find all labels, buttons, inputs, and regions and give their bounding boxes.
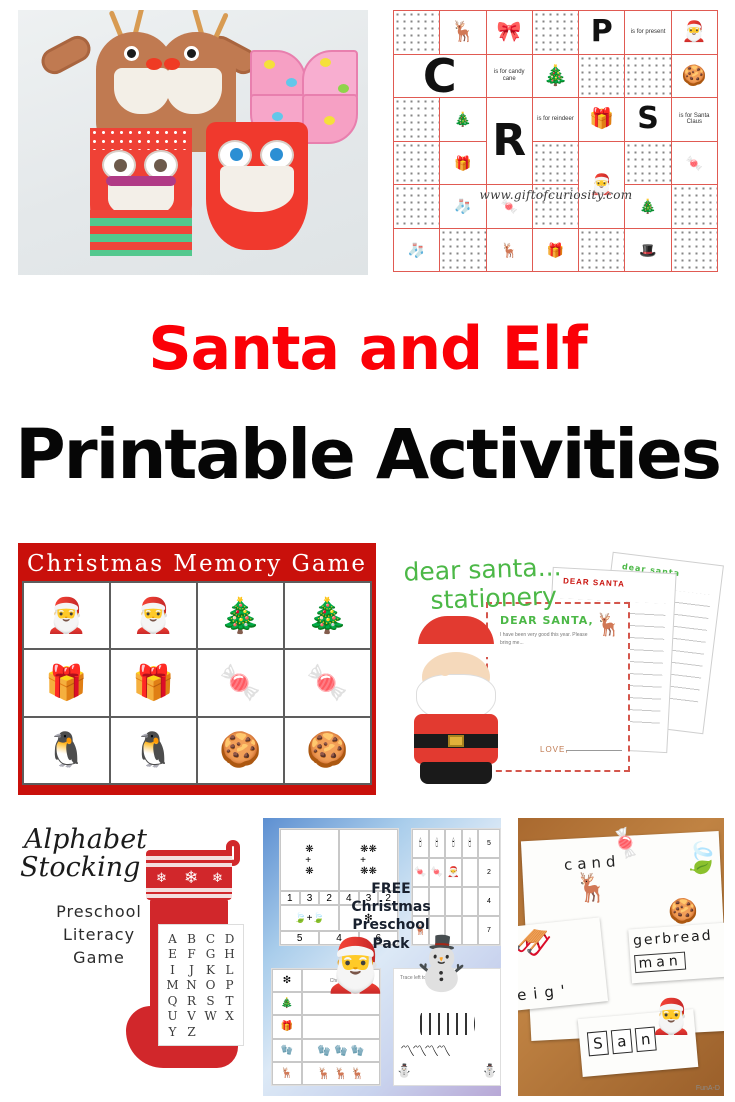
worksheet-thumb: 🦌 (487, 229, 532, 272)
memory-card-penguin[interactable]: 🐧 (111, 718, 196, 783)
page-title-line-2: Printable Activities (0, 418, 735, 494)
santa-nose-icon (440, 668, 450, 676)
addition-problem: 🍃+🍃 (280, 905, 339, 931)
title-line-1: Alphabet (24, 826, 174, 854)
santa-clipart (400, 616, 512, 784)
reindeer-snout-icon (166, 68, 222, 114)
letter: O (201, 978, 220, 992)
gingerbread-man-clipart: 🍪 (668, 900, 698, 924)
letter-boxes: S a n (587, 1026, 657, 1056)
memory-card-candy-cane[interactable]: 🍬 (198, 650, 283, 715)
worksheet-thumb (579, 55, 624, 98)
graph-item: ❇ (272, 969, 302, 992)
stationery-title: dear santa... stationery (403, 553, 563, 616)
letter: B (182, 932, 201, 946)
snowflake-icon: ❄ (184, 868, 198, 888)
snowman-icon: ⛄ (482, 1063, 498, 1079)
graph-item: 🧤 (272, 1039, 302, 1062)
worksheet-thumb (440, 229, 485, 272)
cootie-catcher-photo[interactable] (18, 10, 368, 275)
title-line-2: Stocking (20, 854, 174, 882)
alphabet-stocking-subtitle: Preschool Literacy Game (44, 900, 154, 970)
title-line-4: Pack (345, 935, 437, 953)
santa-belt-buckle (448, 735, 464, 747)
word-label-man: man (634, 952, 686, 974)
word-card-gingerbread[interactable]: gerbread man (628, 923, 724, 984)
worksheet-thumb: 🎄 (440, 98, 485, 141)
graph-item: 🦌 (272, 1062, 302, 1085)
letter: J (182, 963, 201, 977)
title-line-3: Preschool (345, 916, 437, 934)
letter: X (220, 1009, 239, 1023)
graph-row: 🧤 🧤 🧤 (302, 1039, 380, 1062)
answer-choice[interactable]: 5 (280, 931, 319, 945)
letter: R (182, 994, 201, 1008)
letter: V (182, 1009, 201, 1023)
stationery-title-line-2: stationery (430, 582, 563, 615)
alphabet-letter-card[interactable]: A B C D E F G H I J K L M N O P Q R S T (158, 924, 244, 1046)
photo-watermark: FunA-D (696, 1085, 720, 1092)
do-a-dot-printables-collage[interactable]: 🦌 🎀 P is for present 🎅 C is for candy ca… (393, 10, 718, 272)
letter: Q (163, 994, 182, 1008)
letter: W (201, 1009, 220, 1023)
reindeer-eye-icon (124, 46, 139, 61)
reindeer-snout-icon (114, 68, 170, 114)
graph-item: 🎁 (272, 1015, 302, 1038)
memory-card-candy-cane[interactable]: 🍬 (285, 650, 370, 715)
letter: L (220, 963, 239, 977)
worksheet-thumb: 🎅 (579, 142, 624, 228)
letter: E (163, 947, 182, 961)
title-line-2: Christmas (345, 898, 437, 916)
addition-problem: ❋+❋ (280, 829, 339, 891)
holly-clipart: 🍃 (683, 844, 720, 874)
worksheet-thumb: is for reindeer (533, 98, 578, 141)
pinterest-pin-graphic: 🦌 🎀 P is for present 🎅 C is for candy ca… (0, 0, 735, 1102)
elf-cootie-catcher (90, 128, 192, 256)
memory-card-christmas-tree[interactable]: 🎄 (285, 583, 370, 648)
sheet-body-text: I have been very good this year. Please … (500, 632, 588, 647)
count-item: 🕯 (445, 829, 462, 858)
worksheet-thumb: is for Santa Claus (672, 98, 717, 141)
memory-card-santa[interactable]: 🎅 (111, 583, 196, 648)
worksheet-thumb (394, 11, 439, 54)
worksheet-thumb (533, 142, 578, 185)
letter: D (220, 932, 239, 946)
count-item (462, 887, 479, 916)
hat-pompom-icon (404, 620, 420, 636)
letter: K (201, 963, 220, 977)
alphabet-stocking-activity[interactable]: ❄ ❄ ❄ A B C D E F G H I J K L M N O P (12, 818, 256, 1096)
letter: M (163, 978, 182, 992)
count-answer[interactable]: 5 (478, 829, 500, 858)
count-answer[interactable]: 2 (478, 858, 500, 887)
count-item: 🎅 (445, 858, 462, 887)
sheet-signoff: LOVE, (540, 745, 569, 754)
memory-game-title: Christmas Memory Game (22, 547, 372, 581)
worksheet-thumb: 🎩 (625, 229, 670, 272)
worksheet-thumb-letter-p: P (579, 11, 624, 54)
sleigh-clipart: 🛷 (518, 924, 555, 960)
snowflake-icon: ❄ (212, 870, 223, 886)
letter: G (201, 947, 220, 961)
worksheet-thumb: 🧦 (394, 229, 439, 272)
sheet-heading: DEAR SANTA (563, 576, 625, 588)
tracing-zigzag: 〽〽〽〽 (400, 1040, 496, 1061)
worksheet-thumb: 🎅 (672, 11, 717, 54)
count-answer[interactable]: 7 (478, 916, 500, 945)
memory-card-christmas-tree[interactable]: 🎄 (198, 583, 283, 648)
graph-row (302, 992, 380, 1015)
graph-item: 🎄 (272, 992, 302, 1015)
word-building-cards-photo[interactable]: 🍬 cand 🍃 🦌 🍪 gerbread man 🛷 eig' S a n 🎅 (518, 818, 724, 1096)
reindeer-nose-icon (146, 58, 162, 70)
page-title-line-1: Santa and Elf (0, 316, 735, 382)
answer-choice[interactable]: 3 (300, 891, 320, 905)
title-line-1: FREE (345, 880, 437, 898)
preschool-pack-sheets: ❋+❋ ❋❋+❋❋ 1 3 2 4 3 2 🍃+🍃 ❇ 5 4 (271, 828, 493, 1086)
answer-choice[interactable]: 1 (280, 891, 300, 905)
worksheet-thumb: 🎁 (440, 142, 485, 185)
worksheet-thumb (579, 229, 624, 272)
dear-santa-stationery[interactable]: dear santa DEAR SANTA 🛷 DEAR SANTA, I ha… (390, 540, 730, 798)
letter: N (182, 978, 201, 992)
word-card-sleigh[interactable]: 🛷 eig' (518, 917, 608, 1010)
christmas-preschool-pack[interactable]: ❋+❋ ❋❋+❋❋ 1 3 2 4 3 2 🍃+🍃 ❇ 5 4 (263, 818, 501, 1096)
worksheet-thumb: is for candy cane (487, 55, 532, 98)
memory-game-grid: 🎅 🎅 🎄 🎄 🎁 🎁 🍬 🍬 🐧 🐧 🍪 🍪 (22, 581, 372, 785)
worksheet-thumb (533, 11, 578, 54)
letter: C (201, 932, 220, 946)
collage-grid: 🦌 🎀 P is for present 🎅 C is for candy ca… (393, 10, 718, 272)
letter: U (163, 1009, 182, 1023)
worksheet-thumb: 🍬 (672, 142, 717, 185)
count-item: 🕯 (462, 829, 479, 858)
watermark: www.giftofcuriosity.com (431, 188, 681, 202)
letter: F (182, 947, 201, 961)
worksheet-thumb: 🎁 (533, 229, 578, 272)
christmas-memory-game[interactable]: Christmas Memory Game 🎅 🎅 🎄 🎄 🎁 🎁 🍬 🍬 🐧 … (18, 543, 376, 795)
tracing-curve (402, 1013, 492, 1035)
memory-card-santa[interactable]: 🎅 (24, 583, 109, 648)
letter: Z (182, 1025, 201, 1039)
worksheet-thumb: 🦌 (440, 11, 485, 54)
count-item (445, 887, 462, 916)
santa-cootie-catcher (206, 122, 308, 250)
letter: P (220, 978, 239, 992)
sheet-heading: DEAR SANTA, (500, 614, 594, 627)
preschool-pack-title: FREE Christmas Preschool Pack (345, 880, 437, 953)
worksheet-thumb (672, 229, 717, 272)
worksheet-thumb: 🎄 (533, 55, 578, 98)
memory-card-penguin[interactable]: 🐧 (24, 718, 109, 783)
reindeer-nose-icon (164, 58, 180, 70)
worksheet-thumb: is for present (625, 11, 670, 54)
memory-card-gingerbread-man[interactable]: 🍪 (285, 718, 370, 783)
reindeer-icon: 🦌 (595, 612, 622, 638)
pin-title-block: Santa and Elf Printable Activities (0, 300, 735, 515)
memory-card-gift[interactable]: 🎁 (111, 650, 196, 715)
memory-card-gingerbread-man[interactable]: 🍪 (198, 718, 283, 783)
letter: S (201, 994, 220, 1008)
letter: T (220, 994, 239, 1008)
word-label-gingerbread: gerbread (633, 928, 714, 950)
letter: I (163, 963, 182, 977)
word-label-sleigh: eig' (518, 981, 573, 1005)
graph-row: 🦌 🦌 🦌 (302, 1062, 380, 1085)
worksheet-thumb-letter-c: C (394, 55, 486, 98)
memory-card-gift[interactable]: 🎁 (24, 650, 109, 715)
worksheet-thumb: 🍪 (672, 55, 717, 98)
worksheet-thumb-letter-s: S (625, 98, 670, 141)
answer-choice[interactable]: 2 (319, 891, 339, 905)
letter: Y (163, 1025, 182, 1039)
worksheet-thumb: 🎀 (487, 11, 532, 54)
reindeer-eye-icon (184, 46, 199, 61)
signature-line (566, 750, 622, 751)
letter: A (163, 932, 182, 946)
count-item: 🕯 (412, 829, 429, 858)
count-item: 🕯 (429, 829, 446, 858)
graph-row (302, 1015, 380, 1038)
alphabet-stocking-title: Alphabet Stocking (24, 826, 174, 883)
worksheet-thumb (625, 142, 670, 185)
count-item (462, 858, 479, 887)
count-answer[interactable]: 4 (478, 887, 500, 916)
reindeer-clipart: 🦌 (574, 874, 609, 902)
worksheet-thumb (394, 142, 439, 185)
worksheet-thumb (625, 55, 670, 98)
santa-boots (420, 762, 492, 784)
worksheet-thumb (394, 98, 439, 141)
santa-clipart: 🎅 (650, 1000, 692, 1034)
snowman-icon: ⛄ (396, 1063, 412, 1079)
worksheet-thumb-letter-r: R (487, 98, 532, 184)
worksheet-thumb: 🎁 (579, 98, 624, 141)
letter: H (220, 947, 239, 961)
